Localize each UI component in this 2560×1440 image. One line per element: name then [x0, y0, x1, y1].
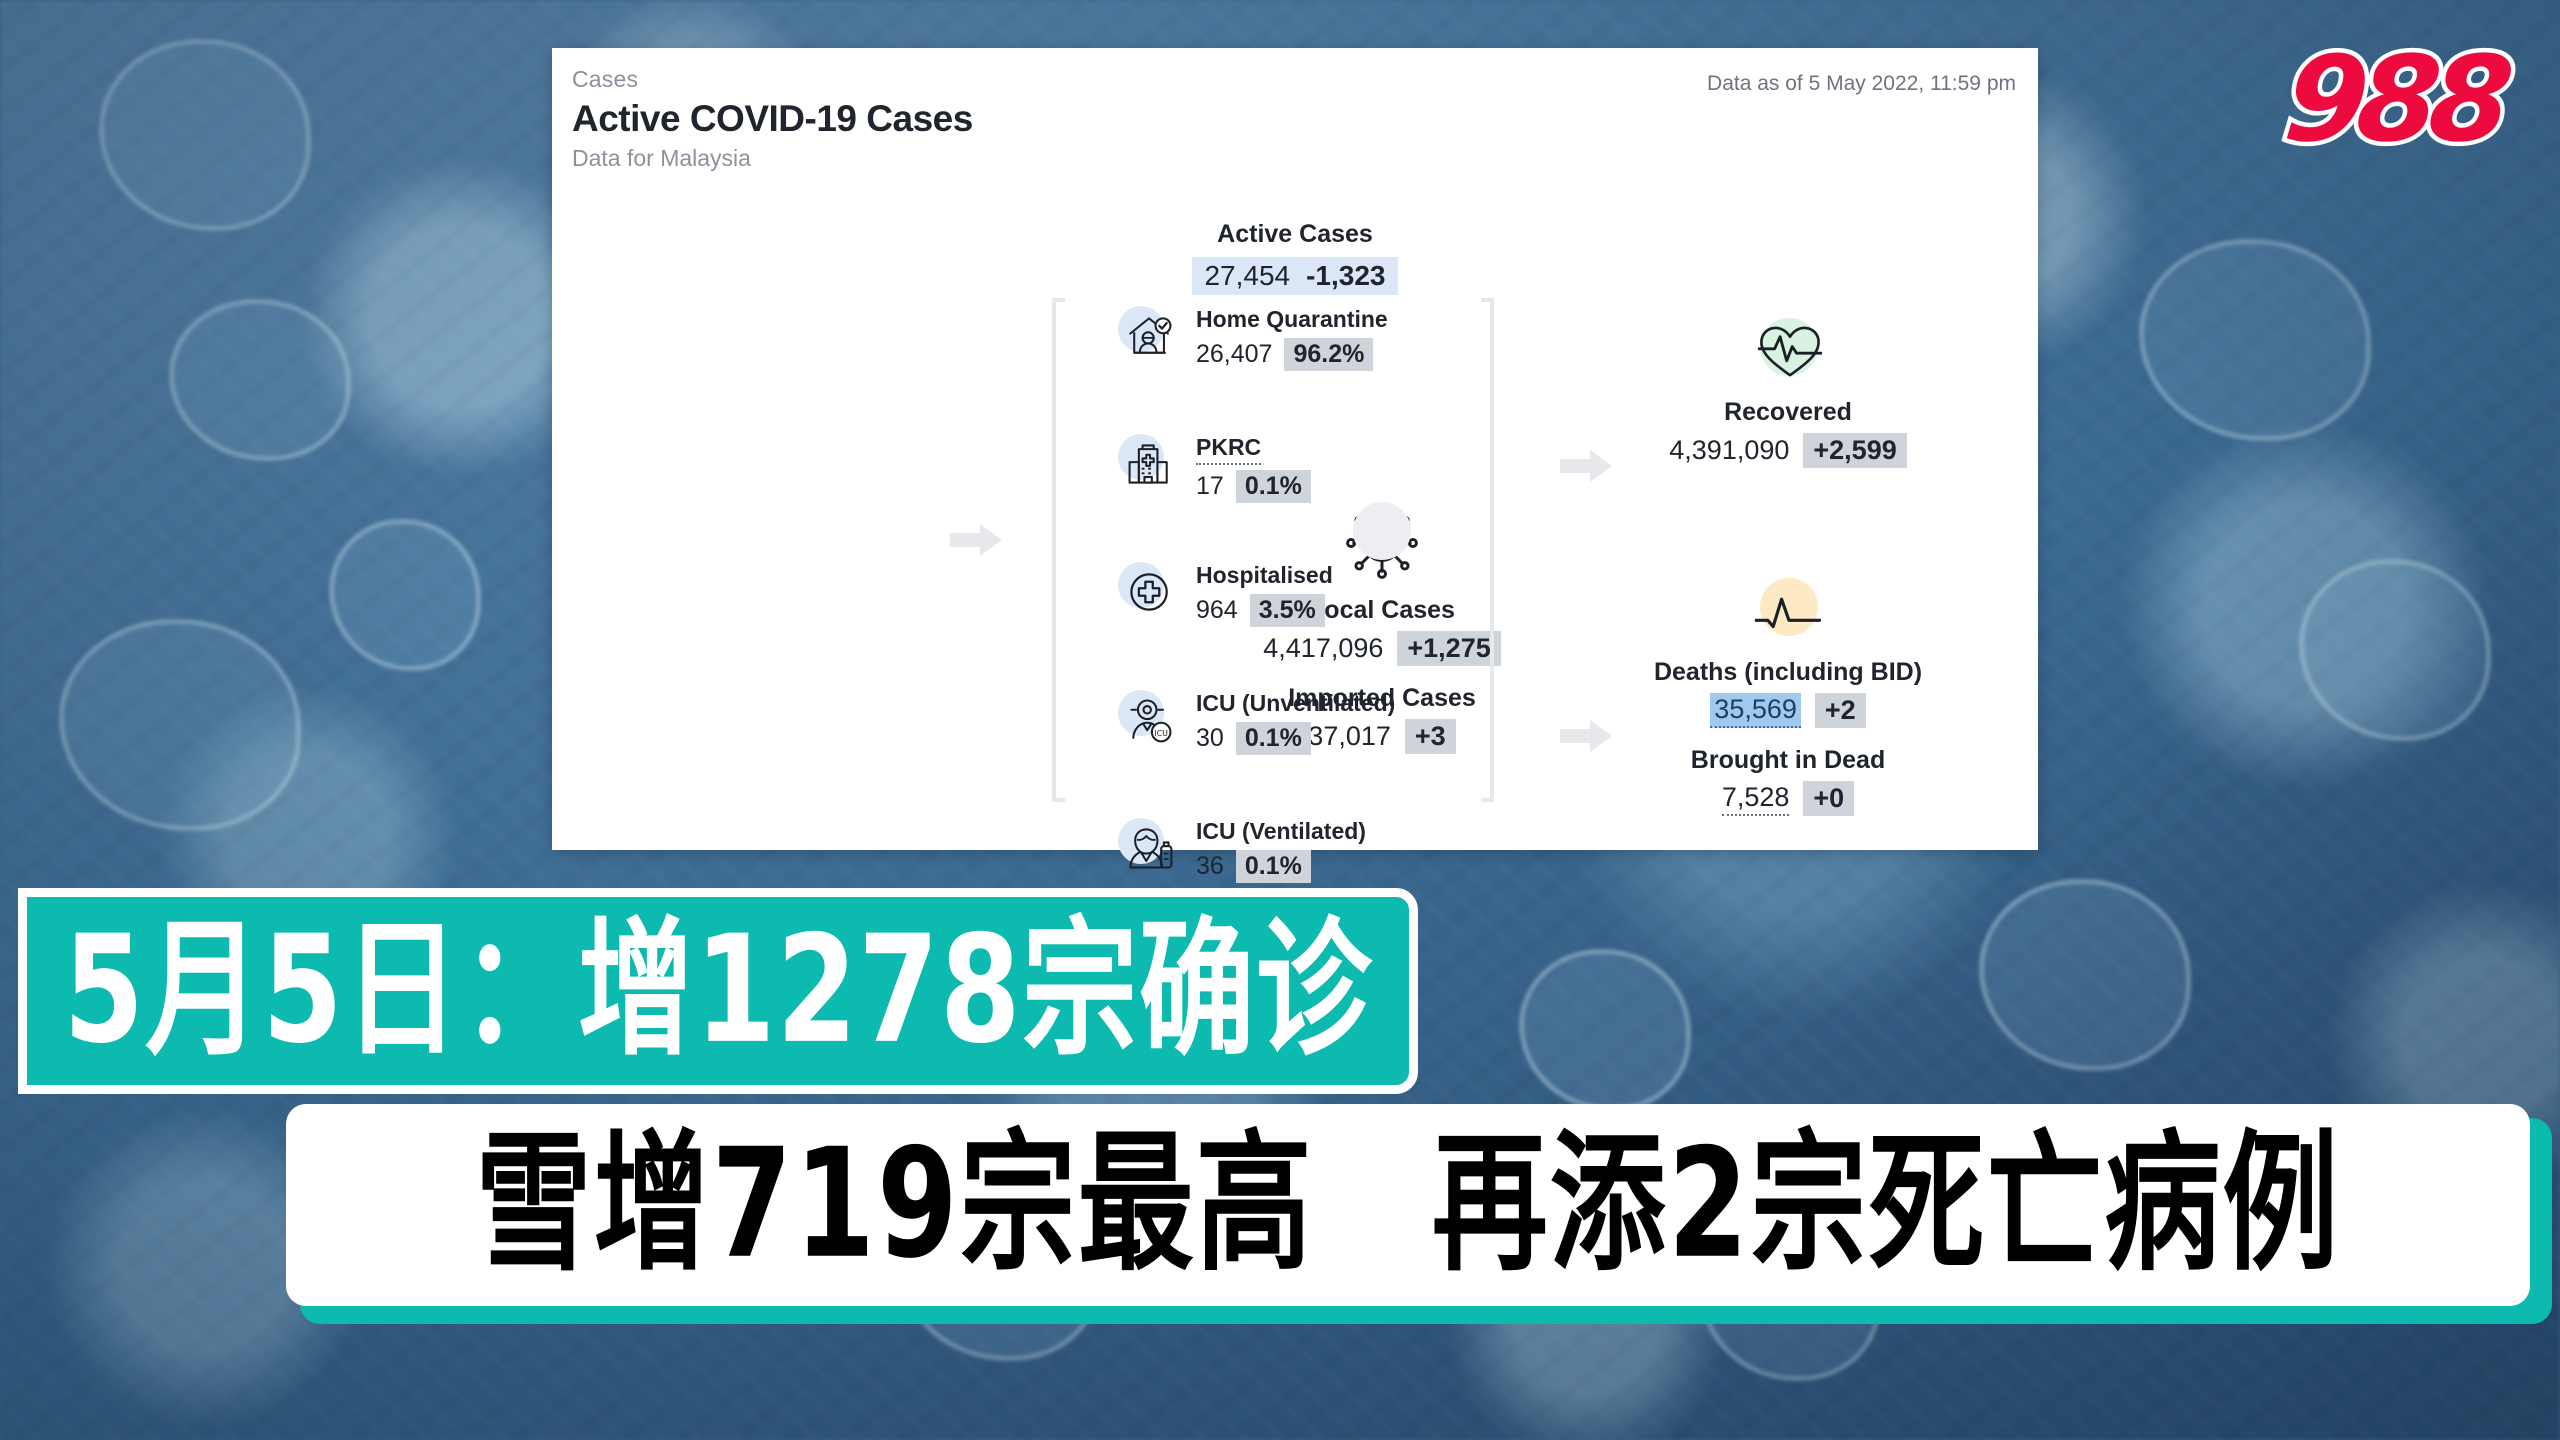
recovered-block: Recovered 4,391,090 +2,599	[1558, 318, 2018, 468]
pkrc-pct: 0.1%	[1236, 470, 1311, 503]
active-cases-summary: Active Cases 27,454 -1,323	[552, 220, 2038, 295]
deaths-value[interactable]: 35,569	[1710, 693, 1801, 728]
card-header: Cases Active COVID-19 Cases Data for Mal…	[572, 66, 973, 172]
icu-unventilated-pct: 0.1%	[1236, 722, 1311, 755]
active-cases-values: 27,454 -1,323	[1192, 257, 1397, 295]
pkrc-label[interactable]: PKRC	[1196, 434, 1261, 465]
deaths-delta: +2	[1815, 693, 1866, 728]
breakdown-row-icu-ventilated: ICU (Ventilated) 36 0.1%	[1118, 816, 1366, 883]
hospitalised-pct: 3.5%	[1250, 594, 1325, 627]
local-cases-delta: +1,275	[1397, 631, 1500, 666]
active-cases-label: Active Cases	[552, 220, 2038, 249]
deaths-values: 35,569 +2	[1710, 693, 1865, 728]
home-quarantine-label: Home Quarantine	[1196, 306, 1388, 333]
data-timestamp: Data as of 5 May 2022, 11:59 pm	[1707, 72, 2016, 96]
brought-in-dead-values: 7,528 +0	[1722, 781, 1854, 816]
virus-icon	[1339, 500, 1425, 586]
active-cases-delta: -1,323	[1306, 260, 1385, 292]
brought-in-dead-value: 7,528	[1722, 782, 1790, 816]
hospital-building-icon	[1118, 432, 1180, 494]
flow-arrow-to-breakdown	[950, 520, 1002, 560]
deaths-label: Deaths (including BID)	[1558, 658, 2018, 687]
active-cases-value: 27,454	[1204, 260, 1290, 292]
brought-in-dead-delta: +0	[1803, 781, 1854, 816]
hospitalised-label: Hospitalised	[1196, 562, 1333, 589]
icu-patient-icon: ICU	[1118, 688, 1180, 750]
headline-white-text: 雪增719宗最高 再添2宗死亡病例	[476, 1130, 2341, 1281]
card-eyebrow: Cases	[572, 66, 973, 93]
imported-cases-delta: +3	[1405, 719, 1456, 754]
local-cases-values: 4,417,096 +1,275	[1263, 631, 1500, 666]
local-cases-value: 4,417,096	[1263, 633, 1383, 664]
recovered-delta: +2,599	[1803, 433, 1906, 468]
headline-banner-teal: 5月5日：增1278宗确诊	[18, 888, 1418, 1094]
icu-unventilated-value: 30	[1196, 724, 1224, 753]
breakdown-row-home-quarantine: Home Quarantine 26,407 96.2%	[1118, 304, 1388, 371]
headline-banner-white: 雪增719宗最高 再添2宗死亡病例	[286, 1104, 2530, 1306]
breakdown-bracket-right	[1490, 298, 1494, 802]
flatline-pulse-icon	[1748, 578, 1828, 650]
home-quarantine-icon	[1118, 304, 1180, 366]
brought-in-dead-label: Brought in Dead	[1558, 746, 2018, 775]
heart-pulse-icon	[1748, 318, 1828, 390]
home-quarantine-value: 26,407	[1196, 340, 1272, 369]
recovered-value: 4,391,090	[1669, 435, 1789, 466]
recovered-label: Recovered	[1558, 398, 2018, 427]
ventilator-patient-icon	[1118, 816, 1180, 878]
icu-ventilated-label: ICU (Ventilated)	[1196, 818, 1366, 845]
home-quarantine-pct: 96.2%	[1284, 338, 1373, 371]
deaths-block: Deaths (including BID) 35,569 +2 Brought…	[1558, 578, 2018, 816]
icu-ventilated-value: 36	[1196, 852, 1224, 881]
pkrc-value: 17	[1196, 472, 1224, 501]
hospitalised-value: 964	[1196, 596, 1238, 625]
icu-unventilated-label: ICU (Unventilated)	[1196, 690, 1395, 717]
medical-cross-icon	[1118, 560, 1180, 622]
icu-ventilated-pct: 0.1%	[1236, 850, 1311, 883]
breakdown-bracket-left	[1052, 298, 1056, 802]
svg-text:ICU: ICU	[1154, 729, 1168, 738]
breakdown-row-pkrc: PKRC 17 0.1%	[1118, 432, 1311, 503]
recovered-values: 4,391,090 +2,599	[1669, 433, 1906, 468]
headline-teal-text: 5月5日：增1278宗确诊	[63, 917, 1372, 1065]
card-subtitle: Data for Malaysia	[572, 145, 973, 172]
covid-dashboard-card: Cases Active COVID-19 Cases Data for Mal…	[552, 48, 2038, 850]
page-title: Active COVID-19 Cases	[572, 98, 973, 140]
station-logo-988: 988	[2279, 40, 2508, 158]
breakdown-row-hospitalised: Hospitalised 964 3.5%	[1118, 560, 1333, 627]
breakdown-row-icu-unventilated: ICU ICU (Unventilated) 30 0.1%	[1118, 688, 1395, 755]
